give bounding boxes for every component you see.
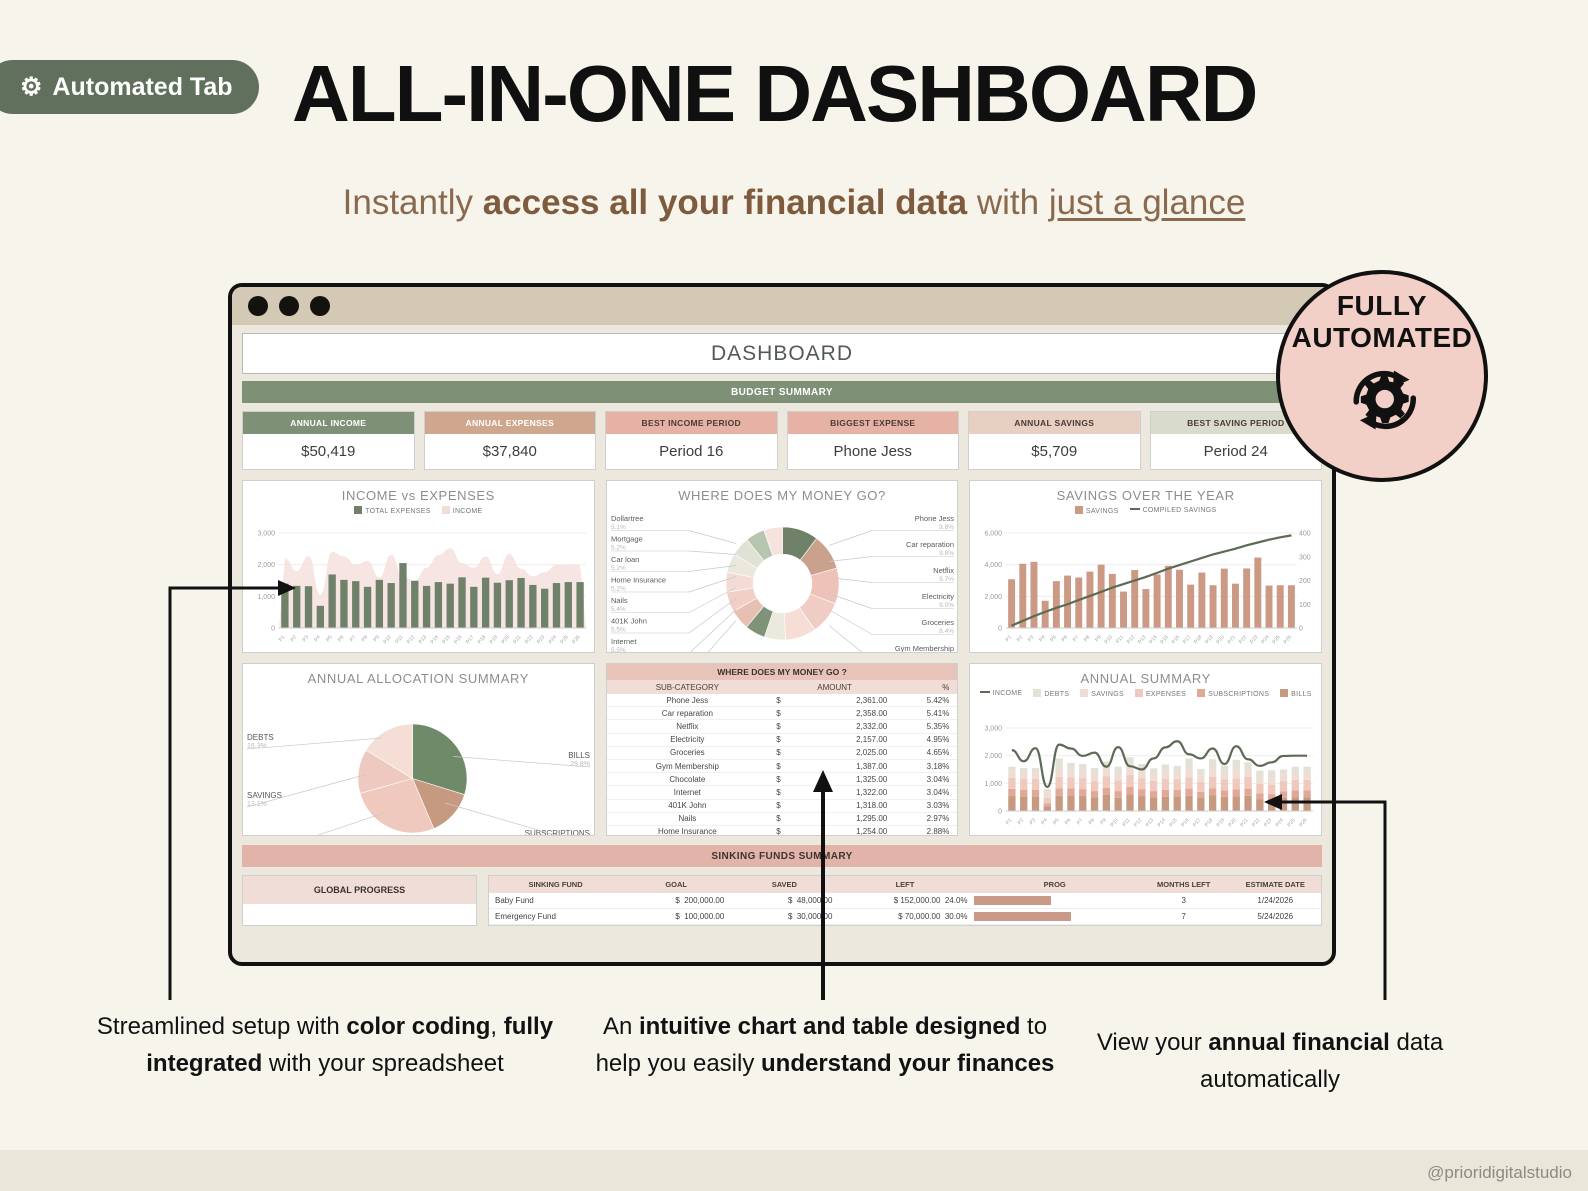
legend-item-expenses: EXPENSES xyxy=(1135,689,1186,698)
legend-swatch xyxy=(1033,689,1041,697)
cell-amount: 1,295.00 xyxy=(789,812,901,825)
svg-text:9.8%: 9.8% xyxy=(939,524,954,531)
table-row[interactable]: Nails$1,295.002.97% xyxy=(607,812,958,825)
svg-text:1,000: 1,000 xyxy=(257,594,275,601)
svg-text:1,000: 1,000 xyxy=(985,781,1003,788)
svg-text:P3: P3 xyxy=(1027,634,1036,643)
sinking-funds-table[interactable]: SINKING FUND GOAL SAVED LEFT PROG MONTHS… xyxy=(488,875,1322,926)
svg-text:Internet: Internet xyxy=(611,637,637,646)
svg-text:2,000: 2,000 xyxy=(257,562,275,569)
cell-fund: Emergency Fund xyxy=(489,909,622,925)
legend-label: TOTAL EXPENSES xyxy=(365,508,431,515)
svg-text:P3: P3 xyxy=(1029,817,1038,826)
legend-label: EXPENSES xyxy=(1146,691,1186,698)
cell-currency: $ xyxy=(768,746,789,759)
cell-amount: 2,332.00 xyxy=(789,720,901,733)
svg-text:400: 400 xyxy=(1299,531,1311,538)
svg-text:P11: P11 xyxy=(394,634,404,645)
legend-item-debts: DEBTS xyxy=(1033,689,1069,698)
cell-amount: 2,358.00 xyxy=(789,707,901,720)
kpi-card-annual-expenses[interactable]: ANNUAL EXPENSES $37,840 xyxy=(424,411,597,470)
svg-text:P25: P25 xyxy=(1272,634,1282,645)
svg-text:Dollartree: Dollartree xyxy=(611,514,644,523)
table-row[interactable]: Electricity$2,157.004.95% xyxy=(607,733,958,746)
cell-sub-category: 401K John xyxy=(607,799,768,812)
cell-currency: $ xyxy=(768,812,789,825)
automated-tab-badge: ⚙ Automated Tab xyxy=(0,60,259,114)
callout-bold: color coding xyxy=(346,1013,490,1040)
chart-plot-area: 02,0004,0006,0000100200300400P1P2P3P4P5P… xyxy=(970,527,1321,652)
legend-label: SAVINGS xyxy=(1086,508,1119,515)
svg-text:P13: P13 xyxy=(1137,634,1147,645)
cell-sub-category: Electricity xyxy=(607,733,768,746)
svg-text:5.4%: 5.4% xyxy=(611,606,626,613)
svg-text:P24: P24 xyxy=(548,634,558,645)
svg-text:P6: P6 xyxy=(1064,817,1073,826)
cell-percent: 4.95% xyxy=(901,733,957,746)
legend-item-income: INCOME xyxy=(980,690,1023,697)
kpi-value: Period 24 xyxy=(1151,434,1322,469)
svg-text:P23: P23 xyxy=(536,634,546,645)
svg-text:P19: P19 xyxy=(1216,817,1226,828)
cell-amount: 1,325.00 xyxy=(789,773,901,786)
svg-text:P17: P17 xyxy=(1192,817,1202,828)
col-sub-category: SUB-CATEGORY xyxy=(607,680,768,694)
table-row[interactable]: Internet$1,322.003.04% xyxy=(607,786,958,799)
sinking-funds-bar: SINKING FUNDS SUMMARY xyxy=(242,845,1322,867)
table-row[interactable]: Home Insurance$1,254.002.88% xyxy=(607,825,958,836)
svg-text:0: 0 xyxy=(1299,626,1303,633)
cell-percent: 3.04% xyxy=(901,773,957,786)
gear-icon: ⚙ xyxy=(20,75,42,100)
footer-strip xyxy=(0,1150,1588,1191)
svg-text:5.1%: 5.1% xyxy=(611,524,626,531)
svg-text:P21: P21 xyxy=(1227,634,1237,645)
kpi-header-label: BEST INCOME PERIOD xyxy=(606,412,777,434)
window-titlebar xyxy=(232,287,1332,325)
table-row[interactable]: Chocolate$1,325.003.04% xyxy=(607,773,958,786)
legend-item-bills: BILLS xyxy=(1280,689,1312,698)
cell-amount: 1,318.00 xyxy=(789,799,901,812)
svg-text:P8: P8 xyxy=(361,634,370,643)
svg-text:DEBTS: DEBTS xyxy=(247,733,274,742)
sinking-funds-grid: SINKING FUND GOAL SAVED LEFT PROG MONTHS… xyxy=(489,876,1321,925)
cell-currency: $ xyxy=(768,786,789,799)
chart-title: SAVINGS OVER THE YEAR xyxy=(970,481,1321,503)
svg-text:Car reparation: Car reparation xyxy=(906,540,954,549)
table-row[interactable]: Car reparation$2,358.005.41% xyxy=(607,707,958,720)
svg-text:9.7%: 9.7% xyxy=(939,576,954,583)
callout-text: with your spreadsheet xyxy=(262,1050,503,1077)
automated-tab-label: Automated Tab xyxy=(52,73,232,102)
svg-text:P2: P2 xyxy=(1016,634,1025,643)
callout-text: , xyxy=(490,1013,503,1040)
kpi-card-annual-savings[interactable]: ANNUAL SAVINGS $5,709 xyxy=(968,411,1141,470)
cell-amount: 1,322.00 xyxy=(789,786,901,799)
chart-grid: INCOME vs EXPENSES TOTAL EXPENSES INCOME… xyxy=(242,480,1322,836)
sinking-funds-body-rows: Baby Fund$ 200,000.00$ 48,000.00$ 152,00… xyxy=(489,893,1321,925)
svg-text:P14: P14 xyxy=(1149,634,1159,645)
kpi-value: $50,419 xyxy=(243,434,414,469)
svg-text:P25: P25 xyxy=(1287,817,1297,828)
cell-sub-category: Home Insurance xyxy=(607,825,768,836)
legend-item-compiled-savings: COMPILED SAVINGS xyxy=(1130,507,1217,514)
chart-income-vs-expenses[interactable]: INCOME vs EXPENSES TOTAL EXPENSES INCOME… xyxy=(242,480,595,653)
chart-legend: SAVINGS COMPILED SAVINGS xyxy=(970,506,1321,515)
svg-text:P25: P25 xyxy=(559,634,569,645)
svg-text:P13: P13 xyxy=(418,634,428,645)
kpi-card-annual-income[interactable]: ANNUAL INCOME $50,419 xyxy=(242,411,415,470)
svg-text:P23: P23 xyxy=(1263,817,1273,828)
chart-title: WHERE DOES MY MONEY GO? xyxy=(607,481,958,503)
svg-text:P5: P5 xyxy=(1050,634,1059,643)
kpi-value: Period 16 xyxy=(606,434,777,469)
legend-swatch xyxy=(354,506,362,514)
svg-text:P15: P15 xyxy=(441,634,451,645)
svg-text:Netflix: Netflix xyxy=(933,566,954,575)
svg-text:Nails: Nails xyxy=(611,596,628,605)
svg-text:Phone Jess: Phone Jess xyxy=(914,514,953,523)
table-row[interactable]: Groceries$2,025.004.65% xyxy=(607,746,958,759)
cell-percent: 2.88% xyxy=(901,825,957,836)
svg-text:P12: P12 xyxy=(1126,634,1136,645)
svg-text:P23: P23 xyxy=(1249,634,1259,645)
svg-text:P9: P9 xyxy=(1094,634,1103,643)
svg-text:BILLS: BILLS xyxy=(568,751,590,760)
cell-percent: 3.03% xyxy=(901,799,957,812)
svg-text:P17: P17 xyxy=(465,634,475,645)
cell-estimate-date: 5/24/2026 xyxy=(1229,909,1321,925)
cell-currency: $ xyxy=(768,720,789,733)
global-progress-card[interactable]: GLOBAL PROGRESS xyxy=(242,875,477,926)
cell-estimate-date: 1/24/2026 xyxy=(1229,893,1321,909)
svg-text:P4: P4 xyxy=(1041,817,1050,826)
table-row[interactable]: Gym Membership$1,387.003.18% xyxy=(607,759,958,772)
svg-text:Gym Membership: Gym Membership xyxy=(894,644,953,652)
legend-swatch xyxy=(1075,506,1083,514)
svg-text:P11: P11 xyxy=(1115,634,1125,645)
svg-text:P18: P18 xyxy=(1193,634,1203,645)
svg-text:P9: P9 xyxy=(372,634,381,643)
table-header-row: SINKING FUND GOAL SAVED LEFT PROG MONTHS… xyxy=(489,876,1321,893)
cell-fund: Baby Fund xyxy=(489,893,622,909)
cell-amount: 2,025.00 xyxy=(789,746,901,759)
svg-text:Electricity: Electricity xyxy=(922,592,954,601)
chart-legend: INCOMEDEBTSSAVINGSEXPENSESSUBSCRIPTIONSB… xyxy=(970,689,1321,698)
table-row[interactable]: 401K John$1,318.003.03% xyxy=(607,799,958,812)
legend-item-subscriptions: SUBSCRIPTIONS xyxy=(1197,689,1269,698)
svg-text:P1: P1 xyxy=(1005,634,1014,643)
svg-text:P15: P15 xyxy=(1160,634,1170,645)
callout-text: An xyxy=(603,1013,639,1040)
legend-label: SUBSCRIPTIONS xyxy=(1208,691,1269,698)
svg-text:P20: P20 xyxy=(1228,817,1238,828)
fully-automated-stamp: FULLY AUTOMATED xyxy=(1276,270,1488,482)
svg-text:Groceries: Groceries xyxy=(921,618,954,627)
subtitle-bold: access all your financial data xyxy=(483,183,967,222)
legend-swatch xyxy=(442,506,450,514)
cell-currency: $ xyxy=(768,759,789,772)
cell-amount: 2,361.00 xyxy=(789,694,901,707)
legend-item-savings: SAVINGS xyxy=(1075,506,1119,515)
svg-text:P7: P7 xyxy=(1072,634,1081,643)
subtitle-part-1: Instantly xyxy=(343,183,483,222)
svg-text:2,000: 2,000 xyxy=(985,753,1003,760)
spreadsheet-body: DASHBOARD BUDGET SUMMARY ANNUAL INCOME $… xyxy=(232,325,1332,926)
svg-text:300: 300 xyxy=(1299,554,1311,561)
svg-text:P26: P26 xyxy=(571,634,581,645)
chart-column-center: WHERE DOES MY MONEY GO? Dollartree5.1%Mo… xyxy=(606,480,959,836)
legend-label: COMPILED SAVINGS xyxy=(1143,507,1217,514)
cell-months-left: 7 xyxy=(1138,909,1230,925)
kpi-value: Phone Jess xyxy=(788,434,959,469)
svg-text:P26: P26 xyxy=(1283,634,1293,645)
cell-currency: $ xyxy=(768,825,789,836)
svg-text:SUBSCRIPTIONS: SUBSCRIPTIONS xyxy=(525,829,590,835)
legend-label: INCOME xyxy=(453,508,483,515)
window-minimize-dot[interactable] xyxy=(279,296,299,316)
kpi-card-biggest-expense[interactable]: BIGGEST EXPENSE Phone Jess xyxy=(787,411,960,470)
svg-text:P16: P16 xyxy=(1181,817,1191,828)
svg-text:Home Insurance: Home Insurance xyxy=(611,576,666,585)
svg-text:P24: P24 xyxy=(1275,817,1285,828)
svg-text:P12: P12 xyxy=(406,634,416,645)
callout-bold: understand your finances xyxy=(761,1050,1054,1077)
svg-text:P10: P10 xyxy=(1104,634,1114,645)
svg-text:P3: P3 xyxy=(302,634,311,643)
svg-text:P10: P10 xyxy=(1110,817,1120,828)
svg-text:5.5%: 5.5% xyxy=(611,647,626,652)
col-percent: % xyxy=(901,680,957,694)
cell-currency: $ xyxy=(768,733,789,746)
subtitle-underline: just a glance xyxy=(1049,183,1246,222)
svg-text:P21: P21 xyxy=(1240,817,1250,828)
cell-currency: $ xyxy=(768,799,789,812)
cell-currency: $ xyxy=(768,694,789,707)
svg-text:P1: P1 xyxy=(1005,817,1014,826)
svg-text:P1: P1 xyxy=(278,634,287,643)
chart-annual-summary[interactable]: ANNUAL SUMMARY INCOMEDEBTSSAVINGSEXPENSE… xyxy=(969,663,1322,836)
legend-item-savings: SAVINGS xyxy=(1080,689,1124,698)
svg-text:P16: P16 xyxy=(453,634,463,645)
window-close-dot[interactable] xyxy=(248,296,268,316)
svg-text:9.0%: 9.0% xyxy=(939,602,954,609)
cell-percent: 3.18% xyxy=(901,759,957,772)
cell-saved: $ 30,000.00 xyxy=(730,909,838,925)
svg-text:P20: P20 xyxy=(500,634,510,645)
svg-text:P14: P14 xyxy=(1157,817,1167,828)
callout-text: View your xyxy=(1097,1029,1209,1056)
cell-sub-category: Chocolate xyxy=(607,773,768,786)
page-subtitle: Instantly access all your financial data… xyxy=(0,183,1588,223)
cell-amount: 1,387.00 xyxy=(789,759,901,772)
col-saved: SAVED xyxy=(730,876,838,893)
kpi-card-best-income-period[interactable]: BEST INCOME PERIOD Period 16 xyxy=(605,411,778,470)
chart-title: ANNUAL SUMMARY xyxy=(970,664,1321,686)
svg-text:401K John: 401K John xyxy=(611,617,647,626)
kpi-value: $5,709 xyxy=(969,434,1140,469)
legend-swatch xyxy=(1197,689,1205,697)
legend-swatch xyxy=(1080,689,1088,697)
money-table: SUB-CATEGORY AMOUNT % Phone Jess$2,361.0… xyxy=(607,680,958,836)
callout-right: View your annual financial data automati… xyxy=(1080,1024,1460,1098)
chart-legend: TOTAL EXPENSES INCOME xyxy=(243,506,594,515)
cell-left: $ 70,000.00 30.0% xyxy=(838,909,971,925)
cell-percent: 5.35% xyxy=(901,720,957,733)
svg-text:P19: P19 xyxy=(489,634,499,645)
table-row[interactable]: Baby Fund$ 200,000.00$ 48,000.00$ 152,00… xyxy=(489,893,1321,909)
svg-text:P16: P16 xyxy=(1171,634,1181,645)
cell-goal: $ 200,000.00 xyxy=(622,893,730,909)
cell-goal: $ 100,000.00 xyxy=(622,909,730,925)
cell-percent: 4.65% xyxy=(901,746,957,759)
svg-text:P21: P21 xyxy=(512,634,522,645)
legend-item-income: INCOME xyxy=(442,506,483,515)
svg-text:P22: P22 xyxy=(524,634,534,645)
svg-text:P22: P22 xyxy=(1251,817,1261,828)
svg-text:P22: P22 xyxy=(1238,634,1248,645)
svg-text:0: 0 xyxy=(998,809,1002,816)
cell-amount: 2,157.00 xyxy=(789,733,901,746)
svg-text:P26: P26 xyxy=(1299,817,1309,828)
svg-text:P9: P9 xyxy=(1100,817,1109,826)
money-table-body: Phone Jess$2,361.005.42%Car reparation$2… xyxy=(607,694,958,836)
cell-percent: 3.04% xyxy=(901,786,957,799)
cell-progress xyxy=(972,909,1138,925)
legend-item-total-expenses: TOTAL EXPENSES xyxy=(354,506,431,515)
svg-text:P14: P14 xyxy=(430,634,440,645)
cell-left: $ 152,000.00 24.0% xyxy=(838,893,971,909)
cell-sub-category: Nails xyxy=(607,812,768,825)
col-prog: PROG xyxy=(972,876,1138,893)
chart-savings-over-the-year[interactable]: SAVINGS OVER THE YEAR SAVINGS COMPILED S… xyxy=(969,480,1322,653)
cell-sub-category: Groceries xyxy=(607,746,768,759)
svg-text:6,000: 6,000 xyxy=(985,531,1003,538)
col-goal: GOAL xyxy=(622,876,730,893)
stamp-line-1: FULLY xyxy=(1337,290,1427,322)
svg-text:5.5%: 5.5% xyxy=(611,627,626,634)
gear-refresh-icon xyxy=(1334,354,1430,446)
chart-plot-area: DEBTS16.3%SAVINGS13.1%EXPENSES27.0%BILLS… xyxy=(243,710,594,835)
callout-bold: intuitive chart and table designed xyxy=(639,1013,1020,1040)
svg-text:4,000: 4,000 xyxy=(985,562,1003,569)
legend-swatch xyxy=(1280,689,1288,697)
legend-label: INCOME xyxy=(993,690,1023,697)
chart-where-does-my-money-go-donut[interactable]: WHERE DOES MY MONEY GO? Dollartree5.1%Mo… xyxy=(606,480,959,653)
chart-title: ANNUAL ALLOCATION SUMMARY xyxy=(243,664,594,686)
cell-sub-category: Netflix xyxy=(607,720,768,733)
svg-text:3,000: 3,000 xyxy=(985,726,1003,733)
col-left: LEFT xyxy=(838,876,971,893)
kpi-header-label: ANNUAL EXPENSES xyxy=(425,412,596,434)
callout-left: Streamlined setup with color coding, ful… xyxy=(95,1008,555,1082)
svg-text:P17: P17 xyxy=(1182,634,1192,645)
svg-text:5.2%: 5.2% xyxy=(611,565,626,572)
svg-text:P2: P2 xyxy=(290,634,299,643)
window-maximize-dot[interactable] xyxy=(310,296,330,316)
svg-text:P18: P18 xyxy=(477,634,487,645)
dashboard-title: DASHBOARD xyxy=(242,333,1322,374)
table-row[interactable]: Phone Jess$2,361.005.42% xyxy=(607,694,958,707)
kpi-header-label: BIGGEST EXPENSE xyxy=(788,412,959,434)
chart-annual-allocation-summary[interactable]: ANNUAL ALLOCATION SUMMARY DEBTS16.3%SAVI… xyxy=(242,663,595,836)
cell-currency: $ xyxy=(768,707,789,720)
chart-plot-area: Dollartree5.1%Mortgage5.2%Car loan5.2%Ho… xyxy=(607,507,958,652)
app-window: DASHBOARD BUDGET SUMMARY ANNUAL INCOME $… xyxy=(228,283,1336,966)
kpi-value: $37,840 xyxy=(425,434,596,469)
svg-text:P5: P5 xyxy=(325,634,334,643)
cell-sub-category: Gym Membership xyxy=(607,759,768,772)
legend-label: DEBTS xyxy=(1044,691,1069,698)
callout-center: An intuitive chart and table designed to… xyxy=(580,1008,1070,1082)
stamp-line-2: AUTOMATED xyxy=(1292,322,1473,354)
svg-text:3,000: 3,000 xyxy=(257,531,275,538)
legend-label: BILLS xyxy=(1291,691,1312,698)
cell-percent: 5.42% xyxy=(901,694,957,707)
svg-text:P7: P7 xyxy=(1076,817,1085,826)
svg-text:P12: P12 xyxy=(1133,817,1143,828)
chart-column-right: SAVINGS OVER THE YEAR SAVINGS COMPILED S… xyxy=(969,480,1322,836)
svg-text:9.8%: 9.8% xyxy=(939,550,954,557)
col-amount: AMOUNT xyxy=(768,680,901,694)
page-title: ALL-IN-ONE DASHBOARD xyxy=(292,48,1256,140)
table-row[interactable]: Netflix$2,332.005.35% xyxy=(607,720,958,733)
table-row[interactable]: Emergency Fund$ 100,000.00$ 30,000.00$ 7… xyxy=(489,909,1321,925)
svg-text:P6: P6 xyxy=(337,634,346,643)
cell-sub-category: Car reparation xyxy=(607,707,768,720)
cell-amount: 1,254.00 xyxy=(789,825,901,836)
callout-text: Streamlined setup with xyxy=(97,1013,346,1040)
legend-line xyxy=(1130,508,1140,511)
col-estimate-date: ESTIMATE DATE xyxy=(1229,876,1321,893)
cell-sub-category: Phone Jess xyxy=(607,694,768,707)
svg-text:P13: P13 xyxy=(1145,817,1155,828)
svg-text:Mortgage: Mortgage xyxy=(611,535,643,544)
legend-swatch xyxy=(1135,689,1143,697)
svg-text:P18: P18 xyxy=(1204,817,1214,828)
table-title: WHERE DOES MY MONEY GO ? xyxy=(607,664,958,680)
cell-percent: 2.97% xyxy=(901,812,957,825)
global-progress-label: GLOBAL PROGRESS xyxy=(243,876,476,904)
chart-title: INCOME vs EXPENSES xyxy=(243,481,594,503)
svg-text:200: 200 xyxy=(1299,578,1311,585)
kpi-row: ANNUAL INCOME $50,419 ANNUAL EXPENSES $3… xyxy=(242,411,1322,470)
svg-text:5.2%: 5.2% xyxy=(611,586,626,593)
col-months-left: MONTHS LEFT xyxy=(1138,876,1230,893)
svg-text:100: 100 xyxy=(1299,602,1311,609)
col-sinking-fund: SINKING FUND xyxy=(489,876,622,893)
chart-plot-area: 01,0002,0003,000P1P2P3P4P5P6P7P8P9P10P11… xyxy=(243,527,594,652)
kpi-header-label: ANNUAL SAVINGS xyxy=(969,412,1140,434)
svg-text:P19: P19 xyxy=(1205,634,1215,645)
table-header-row: SUB-CATEGORY AMOUNT % xyxy=(607,680,958,694)
sinking-funds-body: GLOBAL PROGRESS SINKING FUND GOAL SAVED … xyxy=(242,875,1322,926)
cell-saved: $ 48,000.00 xyxy=(730,893,838,909)
budget-summary-bar: BUDGET SUMMARY xyxy=(242,381,1322,403)
subtitle-part-2: with xyxy=(967,183,1049,222)
table-where-does-my-money-go[interactable]: WHERE DOES MY MONEY GO ? SUB-CATEGORY AM… xyxy=(606,663,959,836)
cell-months-left: 3 xyxy=(1138,893,1230,909)
svg-text:0: 0 xyxy=(998,626,1002,633)
cell-percent: 5.41% xyxy=(901,707,957,720)
svg-text:P6: P6 xyxy=(1061,634,1070,643)
svg-text:P20: P20 xyxy=(1216,634,1226,645)
chart-plot-area: 01,0002,0003,000P1P2P3P4P5P6P7P8P9P10P11… xyxy=(970,722,1321,835)
svg-text:P11: P11 xyxy=(1122,817,1132,828)
legend-label: SAVINGS xyxy=(1091,691,1124,698)
svg-text:5.2%: 5.2% xyxy=(611,545,626,552)
cell-progress xyxy=(972,893,1138,909)
